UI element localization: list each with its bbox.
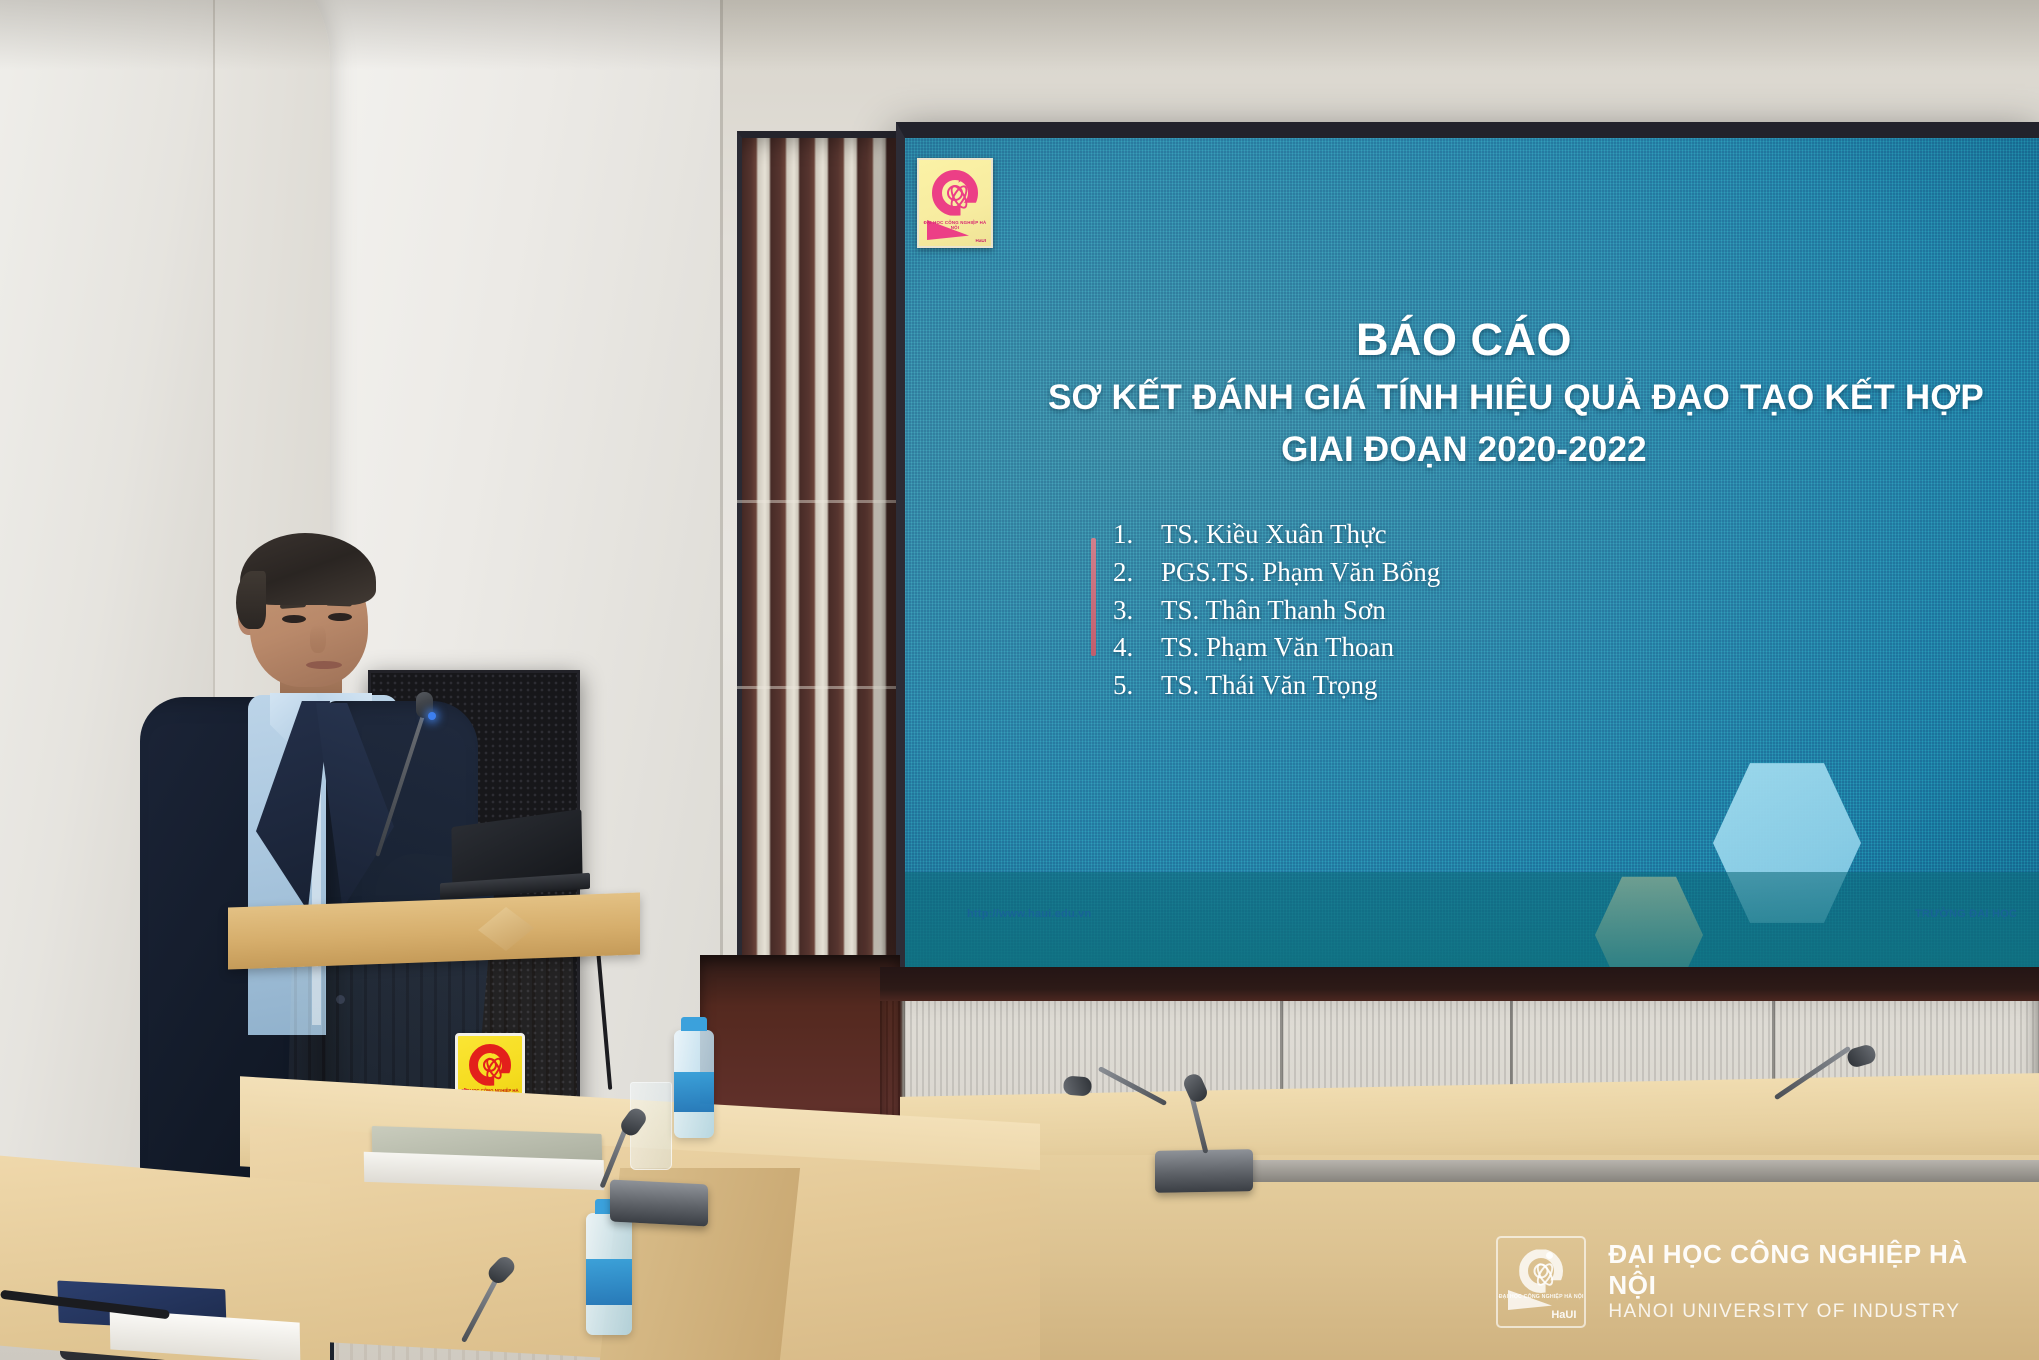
wood-wainscot-top-trim — [880, 967, 2039, 1001]
podium-sign-atom-icon — [483, 1058, 497, 1072]
slide-title-subtitle: SƠ KẾT ĐÁNH GIÁ TÍNH HIỆU QUẢ ĐẠO TẠO KẾ… — [957, 377, 2039, 420]
presentation-slide: BÁO CÁO SƠ KẾT ĐÁNH GIÁ TÍNH HIỆU QUẢ ĐẠ… — [905, 138, 2039, 967]
bottle-label — [586, 1259, 632, 1305]
hair-sideburn — [236, 571, 266, 629]
water-bottle-front — [586, 1213, 632, 1335]
slide-title-block: BÁO CÁO SƠ KẾT ĐÁNH GIÁ TÍNH HIỆU QUẢ ĐẠ… — [905, 316, 2023, 470]
water-bottle-back — [674, 1030, 714, 1138]
haui-logo-card-on-screen: ĐẠI HỌC CÔNG NGHIỆP HÀ NỘI HaUI — [917, 158, 993, 248]
list-item-number: 1. — [1113, 516, 1161, 554]
led-display-screen: BÁO CÁO SƠ KẾT ĐÁNH GIÁ TÍNH HIỆU QUẢ ĐẠ… — [905, 138, 2039, 967]
table-microphone-left-head — [1063, 1076, 1092, 1097]
microphone-status-light — [428, 712, 436, 720]
list-item-label: TS. Kiều Xuân Thực — [1161, 516, 1387, 554]
haui-logo-card-text: ĐẠI HỌC CÔNG NGHIỆP HÀ NỘI — [919, 220, 991, 230]
list-item: 1. TS. Kiều Xuân Thực — [1113, 516, 1440, 554]
led-display-frame: BÁO CÁO SƠ KẾT ĐÁNH GIÁ TÍNH HIỆU QUẢ ĐẠ… — [896, 122, 2039, 967]
list-item-label: PGS.TS. Phạm Văn Bổng — [1161, 554, 1440, 592]
list-item-number: 4. — [1113, 629, 1161, 667]
bottle-label — [674, 1072, 714, 1112]
slat-panel-seam-lower — [737, 686, 905, 689]
list-item: 2. PGS.TS. Phạm Văn Bổng — [1113, 554, 1440, 592]
watermark-name-vietnamese: ĐẠI HỌC CÔNG NGHIỆP HÀ NỘI — [1608, 1239, 2016, 1300]
eye-left — [282, 615, 306, 623]
eye-right — [328, 613, 352, 621]
watermark-badge: ĐẠI HỌC CÔNG NGHIỆP HÀ NỘI HaUI — [1496, 1236, 1586, 1328]
bottle-cap — [681, 1017, 707, 1031]
list-item-number: 2. — [1113, 554, 1161, 592]
slat-panel-seam-upper — [737, 500, 905, 503]
back-table-metal-rail — [1215, 1160, 2039, 1182]
conference-mic-unit-center — [1155, 1149, 1253, 1193]
list-item-number: 5. — [1113, 667, 1161, 705]
watermark-badge-short: HaUI — [1551, 1309, 1576, 1321]
list-accent-bar — [1091, 538, 1096, 656]
presenter-list: 1. TS. Kiều Xuân Thực 2. PGS.TS. Phạm Vă… — [1113, 516, 1440, 705]
slide-title-period: GIAI ĐOẠN 2020-2022 — [905, 430, 2023, 470]
watermark-atom-icon — [1534, 1264, 1549, 1279]
haui-watermark: ĐẠI HỌC CÔNG NGHIỆP HÀ NỘI HaUI ĐẠI HỌC … — [1496, 1236, 2016, 1328]
list-item-number: 3. — [1113, 592, 1161, 630]
list-item-label: TS. Thái Văn Trọng — [1161, 667, 1378, 705]
watermark-badge-text: ĐẠI HỌC CÔNG NGHIỆP HÀ NỘI — [1498, 1294, 1584, 1300]
mouth — [306, 661, 342, 669]
presentation-photo-scene: BÁO CÁO SƠ KẾT ĐÁNH GIÁ TÍNH HIỆU QUẢ ĐẠ… — [0, 0, 2039, 1360]
slide-bottom-band — [905, 872, 2039, 967]
haui-logo-card-short: HaUI — [976, 238, 986, 243]
list-item: 4. TS. Phạm Văn Thoan — [1113, 629, 1440, 667]
conference-mic-unit-front — [610, 1179, 708, 1226]
slide-title-main: BÁO CÁO — [905, 316, 2023, 365]
ceiling-shadow — [0, 0, 2039, 70]
haui-atom-icon — [947, 185, 963, 201]
watermark-name-english: HANOI UNIVERSITY OF INDUSTRY — [1608, 1300, 2016, 1325]
list-item-label: TS. Phạm Văn Thoan — [1161, 629, 1394, 667]
list-item-label: TS. Thân Thanh Sơn — [1161, 592, 1386, 630]
watermark-names: ĐẠI HỌC CÔNG NGHIỆP HÀ NỘI HANOI UNIVERS… — [1608, 1239, 2016, 1325]
list-item: 5. TS. Thái Văn Trọng — [1113, 667, 1440, 705]
list-item: 3. TS. Thân Thanh Sơn — [1113, 592, 1440, 630]
nose — [310, 625, 326, 653]
